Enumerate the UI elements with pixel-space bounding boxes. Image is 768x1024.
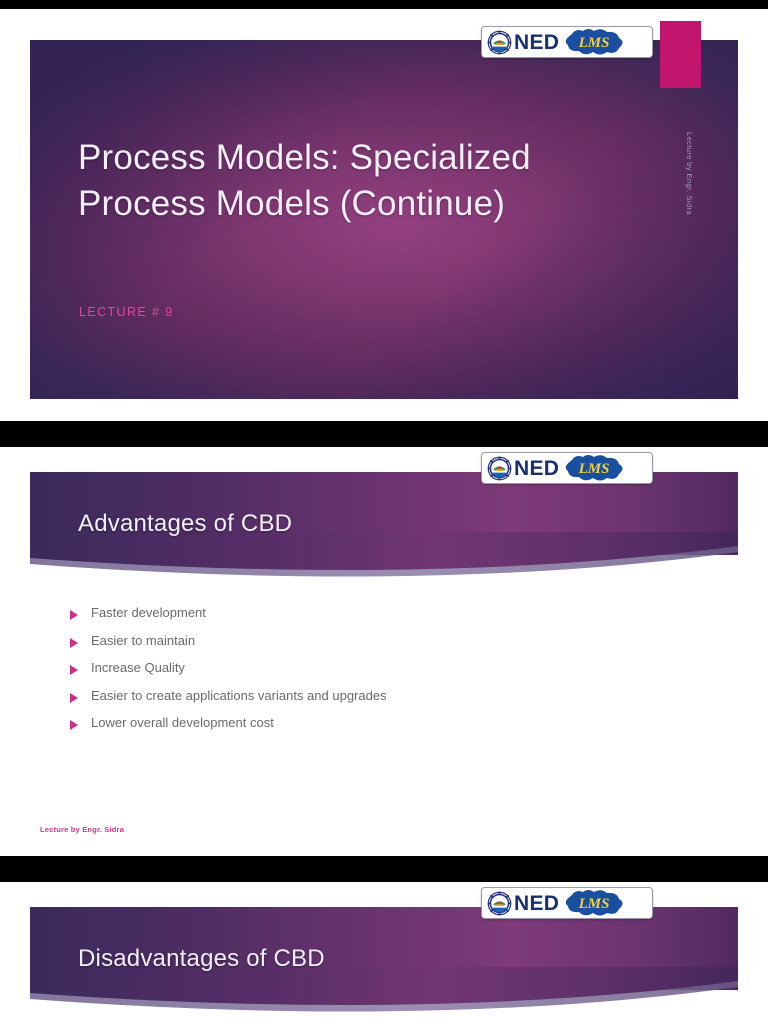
list-item-label: Easier to create applications variants a… [91, 688, 387, 704]
scan-strip-top [0, 0, 768, 9]
slide-3-disadvantages: Disadvantages of CBD [0, 882, 768, 1024]
ned-crest-icon [487, 891, 512, 916]
lms-cloud-badge: LMS [562, 889, 627, 917]
slide-2-advantages: Advantages of CBD Faster development Eas… [0, 447, 768, 856]
svg-text:LMS: LMS [578, 896, 610, 912]
slide-1-title: Process Models: Specialized Process Mode… [0, 9, 768, 421]
slide-2-header-region: Advantages of CBD [30, 472, 738, 582]
triangle-bullet-icon [70, 665, 78, 675]
title-card-background: Process Models: Specialized Process Mode… [30, 40, 738, 399]
triangle-bullet-icon [70, 610, 78, 620]
triangle-bullet-icon [70, 720, 78, 730]
scan-strip-between-slide-1-and-2 [0, 421, 768, 447]
accent-flag-1 [660, 21, 701, 88]
page-title: Disadvantages of CBD [78, 945, 325, 973]
lms-cloud-icon: LMS [562, 454, 627, 482]
list-item-label: Easier to maintain [91, 633, 195, 649]
list-item: Easier to create applications variants a… [70, 688, 690, 704]
list-item-label: Faster development [91, 605, 206, 621]
ned-crest-icon [487, 30, 512, 55]
lms-cloud-badge: LMS [562, 454, 627, 482]
lms-cloud-icon: LMS [562, 28, 627, 56]
slide-3-header-region: Disadvantages of CBD [30, 907, 738, 1017]
ned-wordmark: NED [514, 32, 559, 53]
list-item-label: Lower overall development cost [91, 715, 274, 731]
list-item: Easier to maintain [70, 633, 690, 649]
lms-cloud-badge: LMS [562, 28, 627, 56]
list-item: Lower overall development cost [70, 715, 690, 731]
lecture-number-label: LECTURE # 9 [79, 305, 174, 319]
svg-text:LMS: LMS [578, 35, 610, 51]
ned-lms-logo-2: NED LMS [481, 452, 653, 484]
scan-strip-between-slide-2-and-3 [0, 856, 768, 882]
bullet-list: Faster development Easier to maintain In… [70, 605, 690, 743]
ned-wordmark: NED [514, 458, 559, 479]
list-item: Increase Quality [70, 660, 690, 676]
page-title: Process Models: Specialized Process Mode… [78, 135, 538, 226]
page-title: Advantages of CBD [78, 510, 292, 538]
footer-credit-label: Lecture by Engr. Sidra [40, 825, 124, 834]
lms-cloud-icon: LMS [562, 889, 627, 917]
triangle-bullet-icon [70, 693, 78, 703]
header-swoosh-decoration [30, 967, 738, 1024]
list-item-label: Increase Quality [91, 660, 185, 676]
ned-crest-icon [487, 456, 512, 481]
triangle-bullet-icon [70, 638, 78, 648]
ned-lms-logo-1: NED LMS [481, 26, 653, 58]
header-swoosh-decoration [30, 532, 738, 594]
side-credit-label: Lecture by Engr. Sidra [685, 132, 694, 215]
slide-deck-page: Process Models: Specialized Process Mode… [0, 0, 768, 1024]
svg-text:LMS: LMS [578, 461, 610, 477]
ned-lms-logo-3: NED LMS [481, 887, 653, 919]
list-item: Faster development [70, 605, 690, 621]
ned-wordmark: NED [514, 893, 559, 914]
